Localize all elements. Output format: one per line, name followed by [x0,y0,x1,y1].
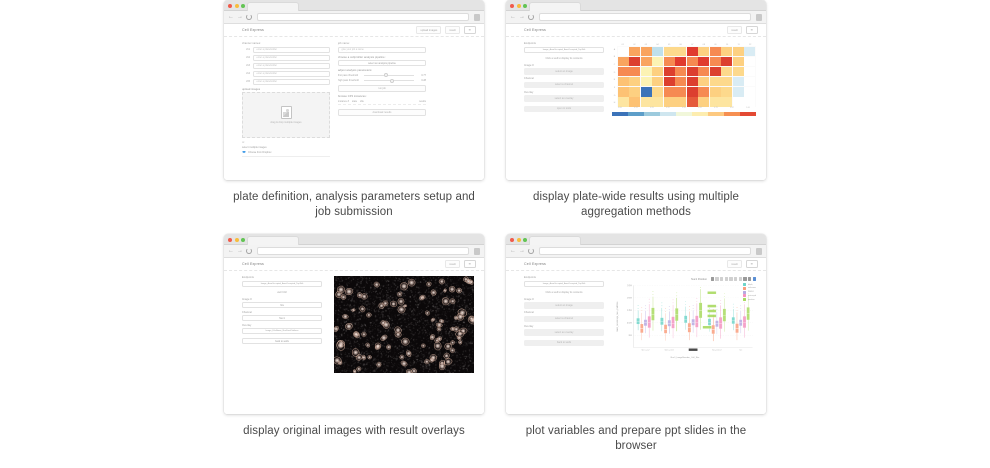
maximize-dot-icon[interactable] [241,4,245,8]
legend-item[interactable]: positive [743,298,756,301]
heatmap-cell[interactable] [698,97,709,107]
heatmap-cell[interactable] [744,67,755,77]
dropbox-chooser-button[interactable]: Choose from Dropbox [242,151,330,158]
run-job-button[interactable]: run job [338,85,426,92]
boxplot-canvas [614,282,756,356]
reload-icon[interactable] [246,248,252,254]
heatmap-cell[interactable] [675,57,686,67]
heatmap-cell[interactable] [618,57,629,67]
heatmap-cell[interactable] [664,87,675,97]
heatmap-cell[interactable] [733,57,744,67]
menu-icon[interactable] [756,248,762,255]
forward-arrow-icon[interactable]: → [237,14,243,20]
slider-label: first pass threshold [338,74,362,77]
instances-table: instance # state idle results [338,100,426,106]
browse-button[interactable]: upload images [416,26,441,34]
url-input[interactable] [539,247,751,255]
heatmap-cell[interactable] [733,67,744,77]
channel-input[interactable]: enter a placeholder [253,79,330,85]
heatmap-cell[interactable] [710,97,721,107]
panel-grid: ← → Cell Express upload images result ☰ [0,0,990,468]
heatmap-cell[interactable] [652,47,663,57]
maximize-dot-icon[interactable] [241,238,245,242]
browser-titlebar [224,0,484,11]
user-icon[interactable]: ☰ [746,26,758,34]
legend-swatch [743,283,746,286]
colorbar-tick: 0.87 [724,107,740,109]
browser-window-overlay: ← → Cell Express result ☰ Endpoints [224,234,484,414]
user-icon[interactable]: ☰ [464,26,476,34]
plot-area[interactable]: blankunknownDMSOtestcmpdpositive [614,282,756,356]
menu-icon[interactable] [756,14,762,21]
heatmap-cell[interactable] [652,67,663,77]
menu-icon[interactable] [474,248,480,255]
legend-swatch [743,287,746,290]
browser-tab[interactable] [247,2,299,11]
heatmap-cell[interactable] [744,97,755,107]
user-icon[interactable]: ☰ [746,260,758,268]
url-input[interactable] [257,13,469,21]
colorbar-tick: 0.37 [660,107,676,109]
panel-caption: plot variables and prepare ppt slides in… [511,424,761,453]
app-header: Cell Express result ☰ [506,24,766,37]
overlay-select[interactable]: select an overlay [524,329,604,336]
channel-select[interactable]: select a channel [524,82,604,89]
back-to-wells-button[interactable]: back to wells [242,338,322,344]
job-name-input[interactable]: give your job a name [338,47,426,53]
heatmap-cell[interactable] [629,57,640,67]
heatmap-cell[interactable] [629,67,640,77]
channel-names-label: channel names: [242,42,330,45]
legend-label: testcmpd [748,295,756,297]
slider-knob[interactable] [390,79,394,83]
heatmap-cell[interactable] [687,67,698,77]
app-page-plot: Cell Express result ☰ Endpoints Image_Ar… [506,258,766,414]
maximize-dot-icon[interactable] [523,238,527,242]
channel-definition-section: channel names: ch1 enter a placeholder c… [242,42,330,157]
heatmap-cell[interactable] [629,77,640,87]
app-header-actions: result ☰ [727,26,758,34]
dropbox-icon [242,151,246,155]
heatmap-cell[interactable] [744,47,755,57]
heatmap-cell[interactable] [698,77,709,87]
image-select[interactable]: f2a [242,302,322,308]
heatmap-cell[interactable] [664,77,675,87]
microscopy-image[interactable] [334,276,474,373]
endpoint-label: Endpoints [524,42,604,45]
heatmap-cell[interactable] [733,97,744,107]
window-controls[interactable] [510,4,527,8]
heatmap-cell[interactable] [710,67,721,77]
browse-instances-label: browse CP2 instances: [338,95,426,98]
table-header-row: instance # state idle results [338,100,426,106]
heatmap-cell[interactable] [629,47,640,57]
legend-label: unknown [748,287,756,289]
app-body-plot: Endpoints Image_AreaOccupied_AreaOccupie… [506,271,766,359]
heatmap-cell[interactable] [710,57,721,67]
browser-window-heatmap: ← → Cell Express result ☰ Endpoints [506,0,766,180]
ppt-icon[interactable] [748,277,751,280]
heatmap-cell[interactable] [687,97,698,107]
colorbar-tick: 1.00 [740,107,756,109]
plot-legend: blankunknownDMSOtestcmpdpositive [743,283,756,301]
param-slider-row: first pass threshold 0.77 [338,74,426,77]
app-brand: Cell Express [242,262,264,266]
heatmap-cell[interactable] [618,87,629,97]
heatmap-grid[interactable] [617,46,756,107]
app-page-overlay: Cell Express result ☰ Endpoints Image_Ar… [224,258,484,414]
app-body-overlay: Endpoints Image_AreaOccupied_AreaOccupie… [224,271,484,373]
col-instance: instance # [338,100,349,103]
heatmap-cell[interactable] [652,57,663,67]
back-arrow-icon[interactable]: ← [510,14,516,20]
app-header-actions: result ☰ [445,260,476,268]
window-controls[interactable] [228,238,245,242]
colorbar [612,112,756,116]
endpoint-select[interactable]: Image_AreaOccupied_AreaOccupied_TopTalk [524,47,604,53]
heatmap-cell[interactable] [641,87,652,97]
minimize-dot-icon[interactable] [517,4,521,8]
image-field-label: Image # [524,298,604,301]
heatmap-cell[interactable] [721,97,732,107]
heatmap-cell[interactable] [710,87,721,97]
heatmap-cell[interactable] [687,77,698,87]
heatmap-cell[interactable] [618,47,629,57]
heatmap-cell[interactable] [744,77,755,87]
legend-swatch [743,298,746,301]
forward-arrow-icon[interactable]: → [237,248,243,254]
heatmap-cell[interactable] [721,57,732,67]
channel-row: ch4 enter a placeholder [242,71,330,77]
microscopy-canvas [334,276,474,373]
slider-knob[interactable] [384,73,388,77]
channel-tag: ch4 [242,72,250,75]
heatmap-cell[interactable] [641,47,652,57]
heatmap-cell[interactable] [744,57,755,67]
channel-tag: ch1 [242,48,250,51]
heatmap-cell[interactable] [698,67,709,77]
heatmap-cell[interactable] [652,97,663,107]
channel-select[interactable]: Nuc1 [242,315,322,321]
close-dot-icon[interactable] [510,4,514,8]
zoom-icon[interactable] [715,277,718,280]
slider-value: 0.28 [416,79,426,82]
close-dot-icon[interactable] [510,238,514,242]
reset-icon[interactable] [720,277,723,280]
reload-icon[interactable] [528,14,534,20]
endpoint-label: Endpoints [524,276,604,279]
app-page-setup: Cell Express upload images result ☰ chan… [224,24,484,180]
open-in-tools-button[interactable]: open in tools [524,106,604,113]
panel-overlay: ← → Cell Express result ☰ Endpoints [213,234,495,468]
dropzone-text: drag & drop multiple images [270,121,301,124]
heatmap-cell[interactable] [710,77,721,87]
window-controls[interactable] [228,4,245,8]
colorbar-ticks: 0.000.120.250.370.500.620.750.871.00 [612,107,756,109]
heatmap-cell[interactable] [733,47,744,57]
boxplot-container: Nuc1 Position [612,276,756,359]
heatmap-cell[interactable] [664,57,675,67]
channel-row: ch1 enter a placeholder [242,47,330,53]
legend-item[interactable]: testcmpd [743,294,756,297]
legend-item[interactable]: blank [743,283,756,286]
download-results-button[interactable]: download results [338,109,426,116]
results-button[interactable]: result [445,26,459,34]
heatmap-body: ABCDEFGH [612,46,756,107]
back-to-wells-button[interactable]: back to wells [524,340,604,347]
heatmap-cell[interactable] [721,77,732,87]
results-button[interactable]: result [445,260,459,268]
overlay-controls: Endpoints Image_AreaOccupied_AreaOccupie… [242,276,322,373]
url-input[interactable] [539,13,751,21]
heatmap-cell[interactable] [675,97,686,107]
colorbar-segment [692,112,708,116]
colorbar-segment [724,112,740,116]
channel-input[interactable]: enter a placeholder [253,55,330,61]
back-arrow-icon[interactable]: ← [228,248,234,254]
heatmap-cell[interactable] [641,67,652,77]
browser-titlebar [506,234,766,245]
panel-caption: plate definition, analysis parameters se… [229,190,479,219]
forward-arrow-icon[interactable]: → [519,14,525,20]
browser-titlebar [224,234,484,245]
x-axis-label: Nuc1_ImageNumber_Cell_Site [614,357,756,359]
image-field-label: Image # [242,298,322,301]
colorbar-segment [644,112,660,116]
image-select[interactable]: select an image [524,302,604,309]
endpoint-select[interactable]: Image_AreaOccupied_AreaOccupied_TopTalk [242,281,322,287]
app-page-heatmap: Cell Express result ☰ Endpoints Image_Ar… [506,24,766,180]
colorbar-segment [628,112,644,116]
app-brand: Cell Express [524,262,546,266]
back-arrow-icon[interactable]: ← [510,248,516,254]
heatmap-cell[interactable] [687,87,698,97]
heatmap-cell[interactable] [675,47,686,57]
panel-heatmap: ← → Cell Express result ☰ Endpoints [495,0,777,234]
user-icon[interactable]: ☰ [464,260,476,268]
channel-tag: ch3 [242,64,250,67]
channel-field-label: Channel [524,311,604,314]
heatmap-cell[interactable] [721,47,732,57]
legend-swatch [743,291,746,294]
slider-track[interactable] [364,80,414,81]
heatmap-cell[interactable] [698,87,709,97]
overlay-field-label: Overlay [242,324,322,327]
job-submission-section: job name: give your job a name choose a … [338,42,426,157]
image-field-label: Image # [524,64,604,67]
heatmap-cell[interactable] [698,47,709,57]
browser-window-setup: ← → Cell Express upload images result ☰ [224,0,484,180]
export-icon[interactable] [743,277,746,280]
overlay-field-label: Overlay [524,91,604,94]
slider-value: 0.77 [416,74,426,77]
heatmap-cell[interactable] [687,47,698,57]
endpoint-select[interactable]: Image_AreaOccupied_AreaOccupied_TopTalk [524,281,604,287]
colorbar-tick: 0.75 [708,107,724,109]
forward-arrow-icon[interactable]: → [519,248,525,254]
minimize-dot-icon[interactable] [517,238,521,242]
heatmap-cell[interactable] [733,87,744,97]
legend-item[interactable]: unknown [743,287,756,290]
well-hint: Click a well to display its contents [524,291,604,294]
minimize-dot-icon[interactable] [235,4,239,8]
heatmap-cell[interactable] [641,77,652,87]
panel-setup: ← → Cell Express upload images result ☰ [213,0,495,234]
pipeline-select[interactable]: select an analysis pipeline [338,60,426,66]
maximize-dot-icon[interactable] [523,4,527,8]
heatmap-cell[interactable] [641,97,652,107]
grid-icon[interactable] [725,277,728,280]
channel-row: ch5 enter a placeholder [242,79,330,85]
browser-titlebar [506,0,766,11]
heatmap-controls: Endpoints Image_AreaOccupied_AreaOccupie… [524,42,604,116]
back-arrow-icon[interactable]: ← [228,14,234,20]
colorbar-segment [676,112,692,116]
panel-plot: ← → Cell Express result ☰ Endpoints [495,234,777,468]
app-header-actions: result ☰ [727,260,758,268]
app-header: Cell Express upload images result ☰ [224,24,484,37]
browser-toolbar: ← → [224,11,484,24]
heatmap-cell[interactable] [652,77,663,87]
pipeline-label: choose a cellprofiler analysis pipeline: [338,56,426,59]
overlay-select[interactable]: Image_FileName_NucFinalOutlines [242,328,322,334]
colorbar-tick: 0.25 [644,107,660,109]
app-header-actions: upload images result ☰ [416,26,476,34]
url-input[interactable] [257,247,469,255]
app-header: Cell Express result ☰ [224,258,484,271]
heatmap-cell[interactable] [710,47,721,57]
legend-swatch [743,294,746,297]
params-label: adjust analysis parameters: [338,69,426,72]
pan-icon[interactable] [711,277,714,280]
upload-images-label: upload images [242,88,330,91]
heatmap-cell[interactable] [629,87,640,97]
dropbox-label: Choose from Dropbox [248,151,271,154]
heatmap-cell[interactable] [721,87,732,97]
heatmap-cell[interactable] [675,87,686,97]
panel-caption: display original images with result over… [229,424,479,439]
heatmap-cell[interactable] [629,97,640,107]
channel-select[interactable]: select a channel [524,316,604,323]
well-hint: Click a well to display its contents [524,57,604,60]
table-icon[interactable] [729,277,732,280]
heatmap-cell[interactable] [721,67,732,77]
browser-window-plot: ← → Cell Express result ☰ Endpoints [506,234,766,414]
heatmap-cell[interactable] [618,97,629,107]
colorbar-tick: 0.50 [676,107,692,109]
image-dropzone[interactable]: drag & drop multiple images [242,92,330,138]
overlay-field-label: Overlay [524,325,604,328]
colorbar-tick: 0.12 [628,107,644,109]
image-file-icon [281,106,292,119]
close-dot-icon[interactable] [228,238,232,242]
legend-item[interactable]: DMSO [743,291,756,294]
image-select[interactable]: select an image [524,68,604,75]
channel-input[interactable]: enter a placeholder [253,63,330,69]
channel-input[interactable]: enter a placeholder [253,71,330,77]
window-controls[interactable] [510,238,527,242]
channel-row: ch2 enter a placeholder [242,55,330,61]
browser-toolbar: ← → [224,245,484,258]
heatmap-cell[interactable] [698,57,709,67]
heatmap-cell[interactable] [744,87,755,97]
save-icon[interactable] [753,277,756,280]
endpoint-label: Endpoints [242,276,322,279]
plot-title: Nuc1 Position [691,278,707,281]
select-images-link[interactable]: select multiple images [242,146,330,149]
browser-tab[interactable] [247,236,299,245]
heatmap-cell[interactable] [675,77,686,87]
overlay-select[interactable]: select an overlay [524,95,604,102]
well-hint: well C02 [242,291,322,294]
heatmap-cell[interactable] [687,57,698,67]
slider-label: high pass threshold [338,79,362,82]
col-results: results [419,100,426,103]
job-name-label: job name: [338,42,426,45]
col-idle: idle [360,100,364,103]
app-header: Cell Express result ☰ [506,258,766,271]
heatmap-cell[interactable] [618,77,629,87]
colorbar-tick: 0.62 [692,107,708,109]
app-body-setup: channel names: ch1 enter a placeholder c… [224,37,484,157]
slider-track[interactable] [364,75,414,76]
menu-icon[interactable] [474,14,480,21]
legend-label: DMSO [748,291,754,293]
channel-tag: ch2 [242,56,250,59]
settings-icon[interactable] [739,277,742,280]
param-slider-row: high pass threshold 0.28 [338,79,426,82]
legend-label: positive [748,299,755,301]
reload-icon[interactable] [246,14,252,20]
app-brand: Cell Express [524,28,546,32]
channel-input[interactable]: enter a placeholder [253,47,330,53]
browser-toolbar: ← → [506,245,766,258]
colorbar-segment [660,112,676,116]
or-label: or: [242,141,330,144]
legend-label: blank [748,284,753,286]
channel-field-label: Channel [524,77,604,80]
browser-tab[interactable] [529,2,581,11]
heatmap-cell[interactable] [652,87,663,97]
minimize-dot-icon[interactable] [235,238,239,242]
results-button[interactable]: result [727,260,741,268]
colorbar-tick: 0.00 [612,107,628,109]
browser-tab[interactable] [529,236,581,245]
browser-toolbar: ← → [506,11,766,24]
col-state: state [352,100,357,103]
channel-field-label: Channel [242,311,322,314]
channel-row: ch3 enter a placeholder [242,63,330,69]
close-dot-icon[interactable] [228,4,232,8]
heatmap-cell[interactable] [664,97,675,107]
results-button[interactable]: result [727,26,741,34]
heatmap-cell[interactable] [618,67,629,77]
heatmap-cell[interactable] [664,47,675,57]
app-brand: Cell Express [242,28,264,32]
plate-heatmap: 010203040506070809101112 ABCDEFGH 0.000.… [612,42,756,116]
colorbar-segment [708,112,724,116]
panel-caption: display plate-wide results using multipl… [511,190,761,219]
heatmap-cell[interactable] [675,67,686,77]
heatmap-cell[interactable] [664,67,675,77]
plot-controls: Endpoints Image_AreaOccupied_AreaOccupie… [524,276,604,359]
close-icon[interactable] [734,277,737,280]
reload-icon[interactable] [528,248,534,254]
heatmap-cell[interactable] [641,57,652,67]
heatmap-cell[interactable] [733,77,744,87]
colorbar-segment [612,112,628,116]
channel-tag: ch5 [242,80,250,83]
